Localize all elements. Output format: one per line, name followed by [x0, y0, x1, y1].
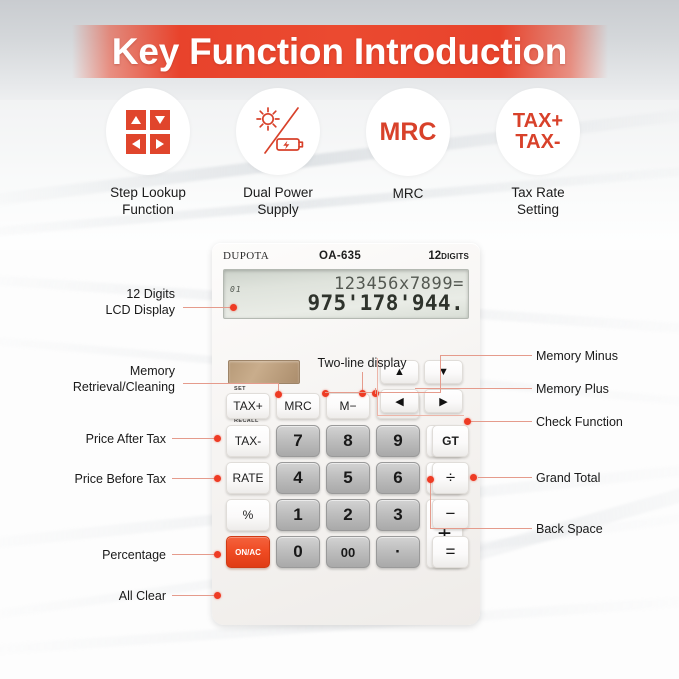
arrow-down-square-icon	[150, 110, 170, 130]
key-8[interactable]: 8	[326, 425, 370, 457]
feature-bubble	[106, 88, 190, 175]
leader-dot	[230, 304, 237, 311]
annotation-line1: Check Function	[536, 414, 676, 430]
key-1[interactable]: 1	[276, 499, 320, 531]
key-4[interactable]: 4	[276, 462, 320, 494]
annotation-line1: Grand Total	[536, 470, 676, 486]
annotation-line1: Memory	[12, 363, 175, 379]
key-divide[interactable]: ÷	[432, 462, 469, 494]
annotation-all-clear: All Clear	[44, 588, 166, 604]
leader-line-vertical	[375, 388, 376, 394]
leader-line	[470, 421, 532, 422]
digits-count: 12	[428, 250, 441, 262]
key-3[interactable]: 3	[376, 499, 420, 531]
digits-label: 12DIGITS	[428, 250, 469, 262]
annotation-grand-total: Grand Total	[536, 470, 676, 486]
calculator-brand-row: DUPOTA OA-635 12DIGITS	[223, 249, 469, 266]
feature-bubble: MRC	[366, 88, 450, 176]
feature-label-line1: Step Lookup	[110, 184, 186, 201]
lcd-display: 01 123456x7899= 975'178'944.	[223, 269, 469, 319]
feature-label-line2: Function	[110, 201, 186, 218]
leader-dot	[427, 476, 434, 483]
feature-label-line2: Setting	[511, 201, 564, 218]
annotation-price-after-tax: Price After Tax	[20, 431, 166, 447]
key-2[interactable]: 2	[326, 499, 370, 531]
feature-label-line2: Supply	[243, 201, 313, 218]
leader-line	[440, 355, 532, 356]
key-5[interactable]: 5	[326, 462, 370, 494]
feature-label: Tax Rate Setting	[511, 184, 564, 218]
annotation-line1: Memory Plus	[536, 381, 676, 397]
feature-label: MRC	[393, 185, 424, 202]
lcd-result-line: 975'178'944.	[252, 291, 464, 315]
key-0[interactable]: 0	[276, 536, 320, 568]
leader-line	[478, 477, 532, 478]
leader-line	[172, 438, 217, 439]
page-title: Key Function Introduction	[0, 25, 679, 78]
key-decimal-point[interactable]: ·	[376, 536, 420, 568]
key-tax-minus[interactable]: TAX-	[226, 425, 270, 457]
key-6[interactable]: 6	[376, 462, 420, 494]
feature-label-line1: Dual Power	[243, 184, 313, 201]
feature-mrc: MRC MRC	[348, 88, 468, 218]
lcd-memory-flag: 01	[230, 285, 242, 294]
key-equals[interactable]: =	[432, 536, 469, 568]
annotation-line1: Price Before Tax	[12, 471, 166, 487]
tax-minus-text: TAX-	[513, 132, 563, 153]
feature-bubble: TAX+ TAX-	[496, 88, 580, 175]
annotation-memory-plus: Memory Plus	[536, 381, 676, 397]
step-lookup-arrows-icon	[126, 110, 170, 154]
dual-power-solar-battery-icon	[249, 105, 307, 159]
annotation-line1: Memory Minus	[536, 348, 676, 364]
annotation-lcd-display: 12 Digits LCD Display	[20, 286, 175, 319]
tax-rate-text-icon: TAX+ TAX-	[513, 111, 563, 153]
key-minus[interactable]: −	[432, 499, 469, 529]
feature-label: Step Lookup Function	[110, 184, 186, 218]
annotation-percentage: Percentage	[30, 547, 166, 563]
digits-word: DIGITS	[441, 252, 469, 261]
annotation-line1: Price After Tax	[20, 431, 166, 447]
check-function-bracket	[377, 358, 464, 416]
leader-dot	[275, 391, 282, 398]
annotation-memory-retrieval: Memory Retrieval/Cleaning	[12, 363, 175, 396]
key-double-zero[interactable]: 00	[326, 536, 370, 568]
leader-dot	[214, 592, 221, 599]
key-grand-total[interactable]: GT	[432, 425, 469, 457]
annotation-line1: Percentage	[30, 547, 166, 563]
leader-line	[183, 307, 233, 308]
feature-step-lookup: Step Lookup Function	[88, 88, 208, 218]
annotation-memory-minus: Memory Minus	[536, 348, 676, 364]
arrow-up-square-icon	[126, 110, 146, 130]
leader-dot	[214, 475, 221, 482]
mrc-text-icon: MRC	[380, 119, 437, 145]
key-on-ac[interactable]: ON/AC	[226, 536, 270, 568]
feature-label: Dual Power Supply	[243, 184, 313, 218]
annotation-line2: Retrieval/Cleaning	[12, 379, 175, 395]
key-9[interactable]: 9	[376, 425, 420, 457]
annotation-line1: Back Space	[536, 521, 676, 537]
feature-list: Step Lookup Function	[88, 88, 598, 218]
arrow-right-square-icon	[150, 134, 170, 154]
leader-dot	[470, 474, 477, 481]
key-tax-plus[interactable]: TAX+	[226, 393, 270, 419]
leader-line	[172, 595, 217, 596]
annotation-check-function: Check Function	[536, 414, 676, 430]
feature-label-line1: Tax Rate	[511, 184, 564, 201]
key-memory-minus[interactable]: M−	[326, 393, 370, 419]
annotation-price-before-tax: Price Before Tax	[12, 471, 166, 487]
feature-tax-rate: TAX+ TAX- Tax Rate Setting	[478, 88, 598, 218]
arrow-left-square-icon	[126, 134, 146, 154]
model-number: OA-635	[319, 250, 361, 262]
annotation-line1: All Clear	[44, 588, 166, 604]
leader-line-vertical	[362, 372, 363, 392]
key-7[interactable]: 7	[276, 425, 320, 457]
solar-panel	[228, 360, 300, 384]
leader-dot	[464, 418, 471, 425]
tax-plus-text: TAX+	[513, 111, 563, 132]
leader-line	[172, 554, 217, 555]
feature-dual-power: Dual Power Supply	[218, 88, 338, 218]
leader-dot	[214, 435, 221, 442]
leader-line-vertical	[430, 479, 431, 529]
annotation-line1: 12 Digits	[20, 286, 175, 302]
feature-label-line1: MRC	[393, 185, 424, 202]
leader-dot	[214, 551, 221, 558]
leader-line	[183, 383, 279, 384]
leader-line	[430, 528, 532, 529]
key-rate[interactable]: RATE	[226, 462, 270, 494]
key-percent[interactable]: %	[226, 499, 270, 531]
set-label: SET	[234, 386, 246, 392]
annotation-line2: LCD Display	[20, 302, 175, 318]
key-mrc[interactable]: MRC	[276, 393, 320, 419]
feature-bubble	[236, 88, 320, 175]
leader-line	[172, 478, 217, 479]
brand-name: DUPOTA	[223, 250, 269, 262]
annotation-back-space: Back Space	[536, 521, 676, 537]
